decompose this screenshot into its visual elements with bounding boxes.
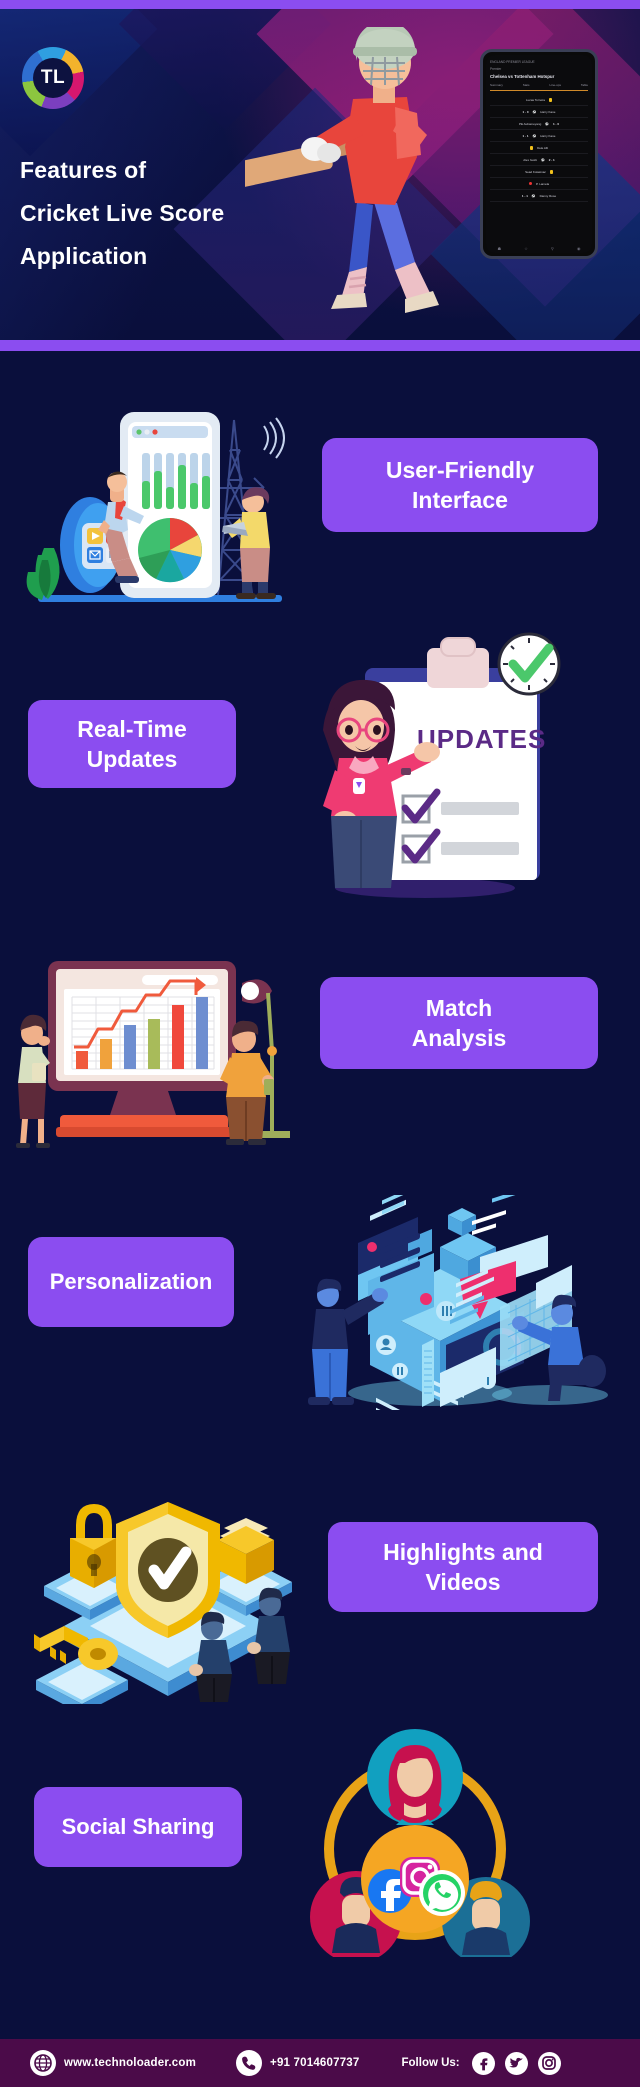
ball-icon: ⚽ xyxy=(545,122,549,126)
phone-event-row: 1 - 1 ⚽ Harry Kane xyxy=(490,130,588,142)
phone-tabs[interactable]: Summary Stats Line-ups Table xyxy=(490,83,588,91)
phone-league-label: ENGLAND PREMIER LEAGUE xyxy=(490,60,588,64)
phone-event-row: Alex Iwobi ⚽ 2 - 1 xyxy=(490,154,588,166)
footer-website[interactable]: www.technoloader.com xyxy=(30,2050,196,2076)
feature-row-personalization: Personalization xyxy=(0,1185,640,1455)
phone-icon xyxy=(236,2050,262,2076)
home-icon[interactable]: ☗ xyxy=(498,246,502,251)
feature-pill-user-friendly-interface[interactable]: User-Friendly Interface xyxy=(322,438,598,532)
page-title-line-3: Application xyxy=(20,235,350,278)
phone-event-row: Lucas Torreira xyxy=(490,94,588,106)
phone-event-right: Dele Alli xyxy=(537,146,548,150)
phone-event-score: 1 - 1 xyxy=(523,134,529,138)
phone-event-score: 1 - 0 xyxy=(523,110,529,114)
ball-icon: ⚽ xyxy=(533,110,537,114)
page-title-line-1: Features of xyxy=(20,149,350,192)
feature-row-match-analysis: Match Analysis xyxy=(0,915,640,1180)
feature-label: Personalization xyxy=(50,1267,213,1297)
logo-text: TL xyxy=(22,47,84,109)
feature-label-line-1: Highlights and xyxy=(383,1537,543,1567)
phone-tab-table[interactable]: Table xyxy=(581,83,588,87)
phone-event-score: 2 - 1 xyxy=(549,158,555,162)
profile-icon[interactable]: ◉ xyxy=(577,246,581,251)
phone-mockup: ENGLAND PREMIER LEAGUE Premier Chelsea v… xyxy=(480,49,598,259)
top-accent-bar xyxy=(0,0,640,9)
isometric-dashboard-illustration xyxy=(300,1195,610,1410)
instagram-icon[interactable] xyxy=(538,2052,561,2075)
bookmark-icon[interactable]: ☆ xyxy=(524,246,528,251)
phone-event-left: Alex Iwobi xyxy=(523,158,537,162)
phone-event-right: P. Lamela xyxy=(536,182,549,186)
feature-row-social-sharing: Social Sharing xyxy=(0,1725,640,1975)
phone-event-row: 1 - 1 ⚽ Danny Rose xyxy=(490,190,588,202)
twitter-icon[interactable] xyxy=(505,2052,528,2075)
mobile-analytics-illustration xyxy=(20,390,300,610)
search-icon[interactable]: ⚲ xyxy=(551,246,554,251)
phone-tab-stats[interactable]: Stats xyxy=(523,83,530,87)
feature-label-line-1: Match xyxy=(412,993,507,1023)
phone-tab-lineups[interactable]: Line-ups xyxy=(549,83,561,87)
phone-event-right: Danny Rose xyxy=(540,194,557,198)
phone-subtitle: Premier xyxy=(490,67,588,71)
feature-label-line-2: Updates xyxy=(77,744,187,774)
phone-event-row: PE Aubameyang ⚽ 1 - 0 xyxy=(490,118,588,130)
phone-event-row: P. Lamela xyxy=(490,178,588,190)
phone-event-row: Dele Alli xyxy=(490,142,588,154)
phone-event-left: Lucas Torreira xyxy=(526,98,545,102)
globe-icon xyxy=(30,2050,56,2076)
feature-label-line-1: Real-Time xyxy=(77,714,187,744)
phone-event-right: Harry Kane xyxy=(540,134,555,138)
footer-phone-text: +91 7014607737 xyxy=(270,2057,359,2069)
facebook-icon[interactable] xyxy=(472,2052,495,2075)
red-card-icon xyxy=(529,182,532,185)
phone-tab-summary[interactable]: Summary xyxy=(490,83,503,87)
footer-bar: www.technoloader.com +91 7014607737 Foll… xyxy=(0,2039,640,2087)
page-title-line-2: Cricket Live Score xyxy=(20,192,350,235)
footer-follow-label: Follow Us: xyxy=(402,2057,460,2069)
ball-icon: ⚽ xyxy=(541,158,545,162)
logo: TL xyxy=(22,47,84,109)
phone-match-title: Chelsea vs Tottenham Hotspur xyxy=(490,74,588,79)
footer-website-text: www.technoloader.com xyxy=(64,2057,196,2069)
feature-label-line-2: Analysis xyxy=(412,1023,507,1053)
header-divider-bar xyxy=(0,340,640,351)
clipboard-updates-illustration: UPDATES xyxy=(305,630,575,900)
phone-event-left: PE Aubameyang xyxy=(519,122,541,126)
header-banner: ENGLAND PREMIER LEAGUE Premier Chelsea v… xyxy=(0,9,640,340)
feature-row-highlights-and-videos: Highlights and Videos xyxy=(0,1460,640,1725)
feature-pill-social-sharing[interactable]: Social Sharing xyxy=(34,1787,242,1867)
feature-row-real-time-updates: UPDATES xyxy=(0,640,640,910)
ball-icon: ⚽ xyxy=(532,194,536,198)
yellow-card-icon xyxy=(549,98,552,102)
ball-icon: ⚽ xyxy=(533,134,537,138)
feature-pill-highlights-and-videos[interactable]: Highlights and Videos xyxy=(328,1522,598,1612)
feature-pill-match-analysis[interactable]: Match Analysis xyxy=(320,977,598,1069)
phone-event-row: 1 - 0 ⚽ Harry Kane xyxy=(490,106,588,118)
footer-follow: Follow Us: xyxy=(402,2057,460,2069)
phone-event-left: Sead Kolasinac xyxy=(525,170,546,174)
feature-pill-real-time-updates[interactable]: Real-Time Updates xyxy=(28,700,236,788)
feature-label-line-1: User-Friendly xyxy=(386,455,534,485)
page-title: Features of Cricket Live Score Applicati… xyxy=(20,149,350,278)
feature-label: Social Sharing xyxy=(62,1812,215,1842)
footer-social-icons[interactable] xyxy=(472,2052,561,2075)
isometric-security-shield-illustration xyxy=(20,1474,310,1704)
feature-pill-personalization[interactable]: Personalization xyxy=(28,1237,234,1327)
feature-label-line-2: Interface xyxy=(386,485,534,515)
phone-event-row: Sead Kolasinac xyxy=(490,166,588,178)
phone-event-score: 1 - 1 xyxy=(522,194,528,198)
footer-phone[interactable]: +91 7014607737 xyxy=(236,2050,359,2076)
phone-bottom-nav[interactable]: ☗ ☆ ⚲ ◉ xyxy=(486,246,592,251)
yellow-card-icon xyxy=(550,170,553,174)
social-network-avatars-illustration xyxy=(290,1727,540,1957)
phone-event-score: 1 - 0 xyxy=(553,122,559,126)
phone-event-right: Harry Kane xyxy=(540,110,555,114)
yellow-card-icon xyxy=(530,146,533,150)
feature-row-user-friendly-interface: User-Friendly Interface xyxy=(0,360,640,640)
feature-label-line-2: Videos xyxy=(383,1567,543,1597)
monitor-bar-chart-illustration xyxy=(10,955,290,1150)
phone-screen: ENGLAND PREMIER LEAGUE Premier Chelsea v… xyxy=(486,55,592,253)
